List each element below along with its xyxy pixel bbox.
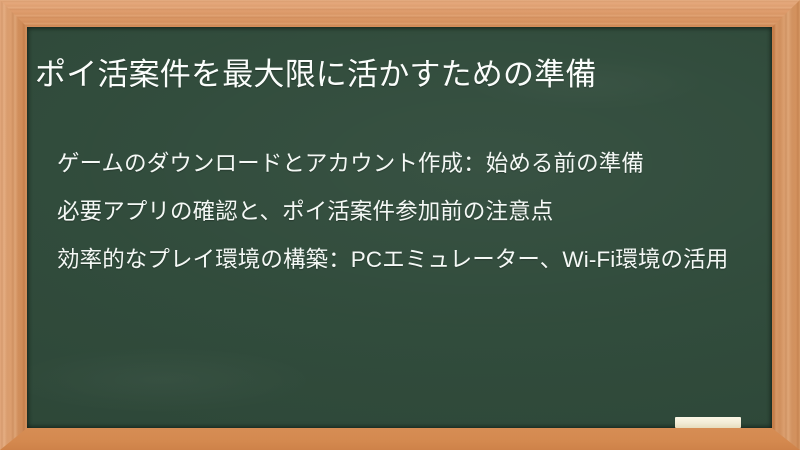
- list-item: 効率的なプレイ環境の構築：PCエミュレーター、Wi-Fi環境の活用: [57, 244, 757, 276]
- list-item: ゲームのダウンロードとアカウント作成：始める前の準備: [57, 148, 757, 180]
- chalkboard-slide: ポイ活案件を最大限に活かすための準備 ゲームのダウンロードとアカウント作成：始め…: [0, 0, 800, 450]
- wooden-frame-top-rail: [0, 0, 800, 27]
- chalk-stick-icon: [675, 417, 741, 428]
- wooden-frame-right-rail: [772, 0, 800, 450]
- list-item: 必要アプリの確認と、ポイ活案件参加前の注意点: [57, 196, 757, 228]
- wooden-frame-bottom-rail: [0, 428, 800, 450]
- wooden-frame-left-rail: [0, 0, 27, 450]
- page-title: ポイ活案件を最大限に活かすための準備: [35, 53, 755, 96]
- chalkboard-surface: ポイ活案件を最大限に活かすための準備 ゲームのダウンロードとアカウント作成：始め…: [27, 27, 772, 428]
- topic-list: ゲームのダウンロードとアカウント作成：始める前の準備 必要アプリの確認と、ポイ活…: [57, 148, 757, 276]
